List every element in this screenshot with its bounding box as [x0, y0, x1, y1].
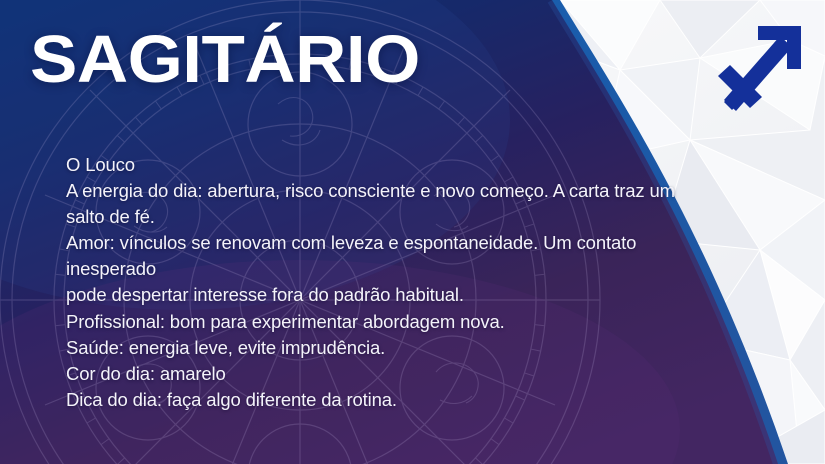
reading-line: Profissional: bom para experimentar abor…	[66, 309, 706, 335]
horoscope-text-block: O Louco A energia do dia: abertura, risc…	[66, 152, 706, 413]
reading-line: A energia do dia: abertura, risco consci…	[66, 178, 706, 204]
reading-line: Amor: vínculos se renovam com leveza e e…	[66, 230, 706, 256]
horoscope-card: SAGITÁRIO O Louco A energia do dia: aber…	[0, 0, 825, 464]
reading-line: O Louco	[66, 152, 706, 178]
reading-line: Cor do dia: amarelo	[66, 361, 706, 387]
page-title: SAGITÁRIO	[30, 26, 420, 93]
reading-line: pode despertar interesse fora do padrão …	[66, 282, 706, 308]
reading-line: Saúde: energia leve, evite imprudência.	[66, 335, 706, 361]
reading-line: Dica do dia: faça algo diferente da roti…	[66, 387, 706, 413]
sagittarius-arrow-icon	[718, 16, 810, 116]
reading-line: inesperado	[66, 256, 706, 282]
reading-line: salto de fé.	[66, 204, 706, 230]
